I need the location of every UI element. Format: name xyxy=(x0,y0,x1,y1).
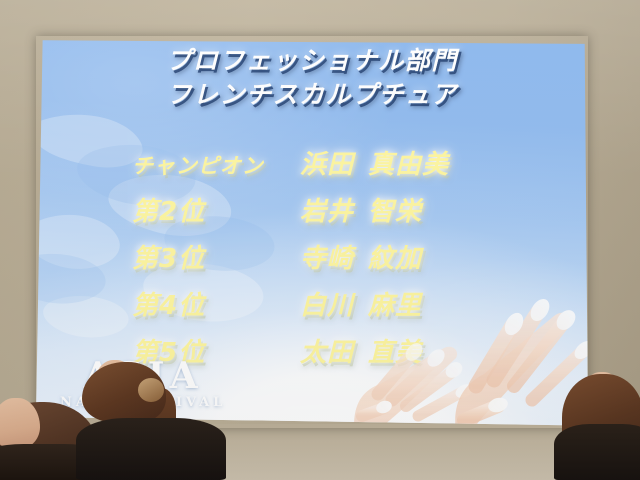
result-surname: 寺崎 xyxy=(300,244,354,274)
result-rank: 第4位 xyxy=(132,285,300,322)
audience-foreground xyxy=(0,360,640,480)
screenshot-root: プロフェッショナル部門 フレンチスカルプチュア チャンピオン 浜田真由美 第2位… xyxy=(0,0,640,480)
result-row: 第4位 白川麻里 xyxy=(132,285,560,332)
result-given-name: 真由美 xyxy=(368,150,449,180)
result-given-name: 智栄 xyxy=(368,197,422,227)
result-name: 寺崎紋加 xyxy=(300,238,422,275)
result-rank: チャンピオン xyxy=(132,150,300,180)
person-hair-bun xyxy=(138,378,164,402)
results-list: チャンピオン 浜田真由美 第2位 岩井智栄 第3位 寺崎紋加 xyxy=(132,144,560,379)
result-name: 岩井智栄 xyxy=(300,191,422,228)
result-rank: 第3位 xyxy=(132,238,300,275)
result-surname: 岩井 xyxy=(300,197,354,227)
result-given-name: 麻里 xyxy=(368,291,422,321)
result-name: 浜田真由美 xyxy=(300,144,449,181)
result-surname: 浜田 xyxy=(300,150,354,180)
result-given-name: 紋加 xyxy=(368,244,422,274)
result-name: 白川麻里 xyxy=(300,285,422,322)
slide-title: プロフェッショナル部門 フレンチスカルプチュア xyxy=(36,44,588,112)
result-rank: 第2位 xyxy=(132,191,300,228)
result-surname: 白川 xyxy=(300,291,354,321)
audience-person-right xyxy=(548,376,640,480)
slide-title-line-2: フレンチスカルプチュア xyxy=(36,78,588,112)
audience-person-center xyxy=(76,362,236,480)
slide-title-line-1: プロフェッショナル部門 xyxy=(36,44,588,78)
person-torso xyxy=(554,424,640,480)
result-row: 第3位 寺崎紋加 xyxy=(132,238,560,285)
person-torso xyxy=(76,418,226,480)
result-row: 第2位 岩井智栄 xyxy=(132,191,560,238)
result-row: チャンピオン 浜田真由美 xyxy=(132,144,560,191)
